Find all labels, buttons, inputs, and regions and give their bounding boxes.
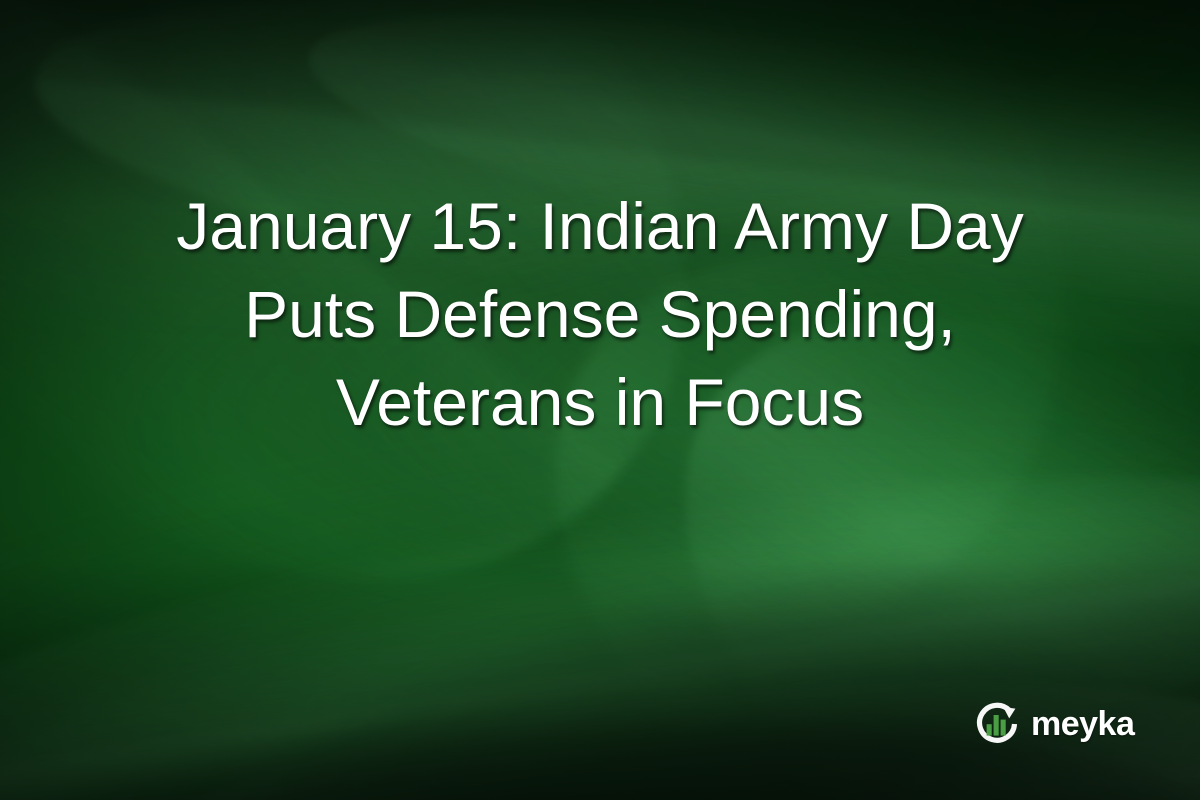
social-share-card: January 15: Indian Army Day Puts Defense… [0, 0, 1200, 800]
brand-logo[interactable]: meyka [972, 699, 1134, 749]
headline-block: January 15: Indian Army Day Puts Defense… [0, 182, 1200, 446]
page-title: January 15: Indian Army Day Puts Defense… [40, 182, 1160, 446]
meyka-logo-icon [972, 699, 1022, 749]
brand-wordmark: meyka [1031, 707, 1134, 741]
